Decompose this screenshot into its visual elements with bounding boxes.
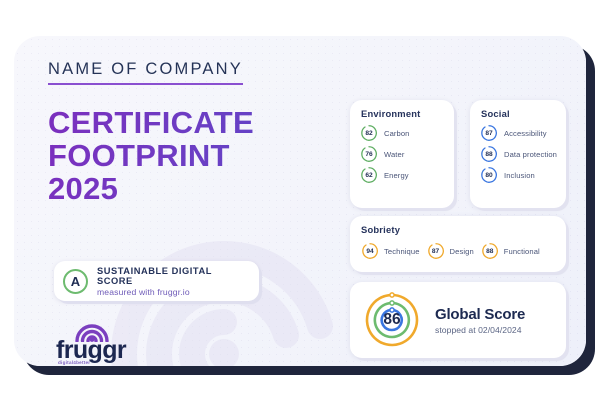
sustainable-digital-score-badge: A SUSTAINABLE DIGITAL SCORE measured wit… xyxy=(54,261,259,301)
metric-label: Accessibility xyxy=(504,129,547,138)
sobriety-metric-list: 94 Technique 87 Design xyxy=(350,235,566,260)
metric-label: Data protection xyxy=(504,150,557,159)
panel-environment: Environment 82 Carbon xyxy=(350,100,454,208)
title-line-3: 2025 xyxy=(48,172,338,205)
panel-environment-title: Environment xyxy=(350,100,454,119)
metric-row: 82 Carbon xyxy=(360,124,454,142)
gauge-value: 62 xyxy=(360,166,378,184)
metric-label: Functional xyxy=(504,247,540,256)
panel-global-score: 86 Global Score stopped at 02/04/2024 xyxy=(350,282,566,358)
grade-badge: A xyxy=(63,269,88,294)
certificate-heading-block: NAME OF COMPANY CERTIFICATE FOOTPRINT 20… xyxy=(48,60,338,205)
global-score-title: Global Score xyxy=(435,306,525,323)
panel-social-title: Social xyxy=(470,100,566,119)
metric-row: 94 Technique xyxy=(361,242,420,260)
title-line-2: FOOTPRINT xyxy=(48,139,338,172)
gauge-value: 80 xyxy=(480,166,498,184)
metric-label: Water xyxy=(384,150,404,159)
gauge-value: 94 xyxy=(361,242,379,260)
gauge-value: 88 xyxy=(481,242,499,260)
metric-label: Design xyxy=(450,247,474,256)
gauge-data-protection: 88 xyxy=(480,145,498,163)
fruggr-tagline: digital4better xyxy=(58,360,90,365)
title-line-1: CERTIFICATE xyxy=(48,106,338,139)
metric-label: Inclusion xyxy=(504,171,535,180)
gauge-technique: 94 xyxy=(361,242,379,260)
gauge-inclusion: 80 xyxy=(480,166,498,184)
certificate-card: NAME OF COMPANY CERTIFICATE FOOTPRINT 20… xyxy=(14,36,586,366)
panel-sobriety: Sobriety 94 Technique xyxy=(350,216,566,272)
panel-sobriety-title: Sobriety xyxy=(350,216,566,235)
gauge-accessibility: 87 xyxy=(480,124,498,142)
metric-row: 62 Energy xyxy=(360,166,454,184)
gauge-energy: 62 xyxy=(360,166,378,184)
metric-label: Technique xyxy=(384,247,420,256)
page-title: CERTIFICATE FOOTPRINT 2025 xyxy=(48,106,338,205)
metric-label: Carbon xyxy=(384,129,410,138)
gauge-carbon: 82 xyxy=(360,124,378,142)
fruggr-arc-icon xyxy=(74,322,110,342)
metric-label: Energy xyxy=(384,171,409,180)
metric-row: 80 Inclusion xyxy=(480,166,566,184)
certificate-screenshot: NAME OF COMPANY CERTIFICATE FOOTPRINT 20… xyxy=(0,0,601,401)
global-score-value: 86 xyxy=(364,292,420,348)
gauge-value: 87 xyxy=(480,124,498,142)
global-score-subtitle: stopped at 02/04/2024 xyxy=(435,325,525,335)
social-metric-list: 87 Accessibility 88 Data protection xyxy=(470,119,566,184)
gauge-functional: 88 xyxy=(481,242,499,260)
panel-social: Social 87 Accessibility xyxy=(470,100,566,208)
metric-row: 88 Data protection xyxy=(480,145,566,163)
gauge-value: 76 xyxy=(360,145,378,163)
score-badge-subtitle: measured with fruggr.io xyxy=(97,287,250,297)
score-badge-title: SUSTAINABLE DIGITAL SCORE xyxy=(97,266,250,286)
gauge-value: 82 xyxy=(360,124,378,142)
metric-row: 88 Functional xyxy=(481,242,540,260)
gauge-water: 76 xyxy=(360,145,378,163)
global-score-rings: 86 xyxy=(364,292,420,348)
metric-row: 87 Design xyxy=(427,242,474,260)
metric-row: 76 Water xyxy=(360,145,454,163)
gauge-value: 87 xyxy=(427,242,445,260)
metric-row: 87 Accessibility xyxy=(480,124,566,142)
environment-metric-list: 82 Carbon 76 Water xyxy=(350,119,454,184)
fruggr-logo: fruggr digital4better xyxy=(56,324,156,363)
gauge-design: 87 xyxy=(427,242,445,260)
gauge-value: 88 xyxy=(480,145,498,163)
company-name: NAME OF COMPANY xyxy=(48,60,243,85)
